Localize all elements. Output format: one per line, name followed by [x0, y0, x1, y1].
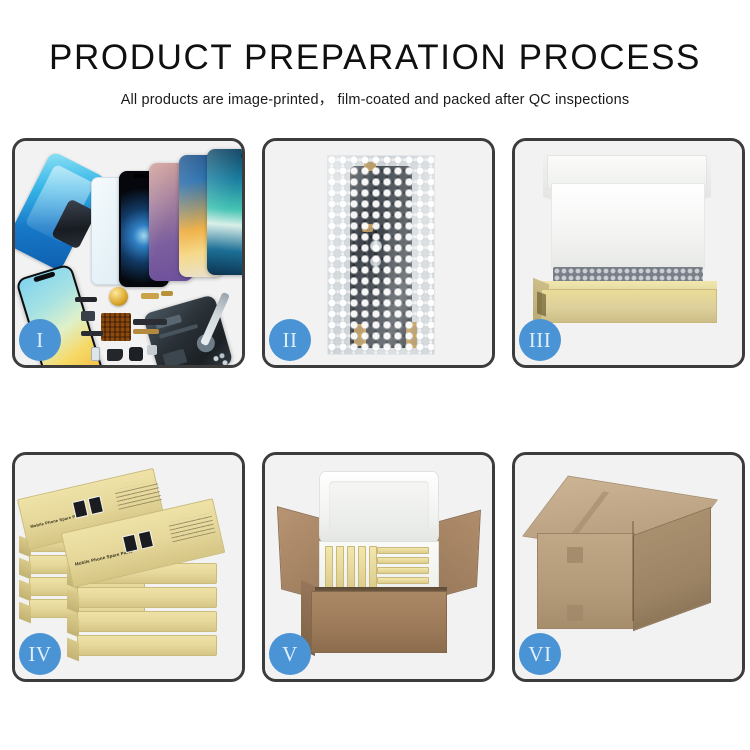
packed-boxes-horizontal [325, 545, 433, 589]
carton-front [537, 533, 635, 629]
speaker-part-icon [107, 349, 123, 361]
phone-teal-icon [207, 149, 242, 275]
process-step-1: I [12, 138, 245, 368]
part-bar-icon [75, 297, 97, 302]
process-step-5: V [262, 452, 495, 682]
tape-mark-icon [567, 605, 583, 621]
box-artwork-thumbnails [72, 496, 104, 519]
flex-cable-icon [81, 331, 103, 336]
flex-cable-icon [133, 329, 159, 334]
box-spec-text [114, 480, 161, 509]
step-badge: IV [19, 633, 61, 675]
inner-box-front [541, 289, 717, 323]
bubble-wrap-bag [327, 155, 435, 355]
product-preparation-infographic: PRODUCT PREPARATION PROCESS All products… [0, 0, 750, 750]
foam-sheet [551, 183, 705, 269]
page-title: PRODUCT PREPARATION PROCESS [0, 40, 750, 77]
gold-component-icon [109, 287, 128, 306]
box-side [19, 580, 31, 602]
part-bar-icon [161, 291, 173, 296]
process-step-6: VI [512, 452, 745, 682]
process-step-4: Mobile Phone Spare Parts Mobile Phone Sp… [12, 452, 245, 682]
process-step-grid: I II [12, 138, 745, 683]
part-bar-icon [141, 293, 159, 299]
box-side [67, 614, 79, 638]
plastic-gloss [328, 156, 434, 354]
page-subtitle: All products are image-printed， film-coa… [0, 88, 750, 109]
retail-box [77, 635, 217, 656]
step-badge: II [269, 319, 311, 361]
box-side [67, 638, 79, 662]
flex-cable-icon [133, 319, 167, 325]
screws-icon [211, 353, 231, 365]
carton-front [311, 591, 447, 653]
step-badge: I [19, 319, 61, 361]
step-badge: III [519, 319, 561, 361]
box-side [19, 602, 31, 624]
camera-dot-icon [241, 154, 242, 158]
camera-module-icon [129, 347, 143, 361]
metal-bracket-icon [147, 345, 157, 355]
box-spec-text [168, 513, 215, 542]
sim-tray-icon [91, 347, 100, 361]
chip-grid-icon [101, 313, 131, 341]
box-artwork-thumbnails [122, 530, 154, 553]
box-corner-shadow [537, 291, 546, 316]
connector-icon [81, 311, 95, 321]
header: PRODUCT PREPARATION PROCESS All products… [0, 0, 750, 109]
foam-lid [319, 471, 439, 543]
carton-edge [632, 521, 634, 621]
process-step-3: III [512, 138, 745, 368]
box-side [19, 558, 31, 580]
step-badge: VI [519, 633, 561, 675]
tape-mark-icon [567, 547, 583, 563]
retail-box [77, 611, 217, 632]
retail-box [77, 587, 217, 608]
box-label: Mobile Phone Spare Parts [74, 549, 133, 567]
process-step-2: II [262, 138, 495, 368]
step-badge: V [269, 633, 311, 675]
